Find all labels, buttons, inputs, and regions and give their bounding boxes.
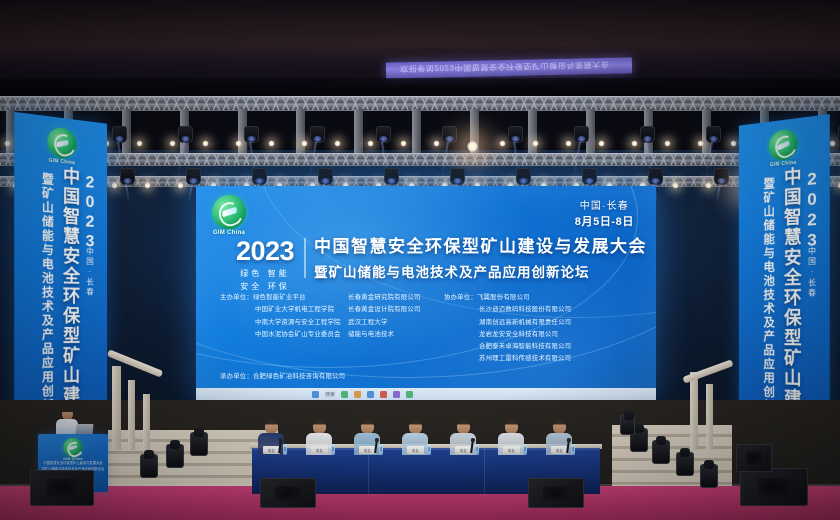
- event-location: 中国·长春: [575, 200, 634, 215]
- main-led-screen: GIM China 中国·长春 8月5日-8日 2023 绿色 智能 安全 环保…: [196, 186, 656, 400]
- stage-spotlight: [705, 182, 712, 189]
- panelist: [354, 420, 380, 520]
- moving-head-fixture: [186, 168, 201, 185]
- nameplate-text: 姓名: [364, 448, 371, 453]
- cohost-label: 协办单位：: [444, 294, 477, 301]
- cohost-item-4: 合肥泰禾卓海智能科技有限公司: [444, 341, 571, 353]
- nameplate-text: 姓名: [556, 448, 563, 453]
- stage-spotlight: [730, 140, 737, 147]
- lighting-truss-mid: [0, 153, 840, 166]
- moving-head-fixture: [706, 126, 721, 143]
- panelist-head: [409, 420, 422, 434]
- stage-spotlight: [301, 140, 308, 147]
- water-bottle: [475, 444, 479, 455]
- balustrade-left-post: [143, 394, 150, 452]
- cohost-column: 协办单位：飞翼股份有限公司 长沙迪迈数码科技股份有限公司 湖南创远高新机械有限责…: [444, 292, 571, 366]
- panelist: [498, 420, 524, 520]
- stage-spotlight: [672, 182, 679, 189]
- moving-head-fixture: [442, 126, 457, 143]
- water-bottle: [283, 444, 287, 455]
- panelist-head: [505, 420, 518, 434]
- moving-head-fixture: [244, 126, 259, 143]
- moving-head-fixture: [252, 168, 267, 185]
- stage-monitor-speaker: [30, 470, 94, 506]
- banner-right-city: 中国·长春: [807, 246, 818, 298]
- stage-spotlight: [565, 140, 572, 147]
- panelist-head: [361, 420, 374, 434]
- stage-spotlight: [202, 140, 209, 147]
- stage-monitor-speaker: [528, 478, 584, 508]
- organizer-block: 主办单位：绿色智能矿业平台 中国矿业大学机电工程学院 中南大学资源与安全工程学院…: [220, 292, 644, 383]
- moving-head-light: [700, 464, 718, 488]
- taskbar-search-label[interactable]: 搜索: [325, 391, 335, 398]
- balustrade-left-post: [128, 380, 135, 450]
- balustrade-right-post: [690, 372, 698, 450]
- store-icon[interactable]: [406, 391, 413, 398]
- moving-head-fixture: [384, 168, 399, 185]
- stage-spotlight: [334, 140, 341, 147]
- water-bottle: [331, 444, 335, 455]
- host-col1-item-1: 中国矿业大学机电工程学院: [220, 304, 348, 316]
- moving-head-fixture: [582, 168, 597, 185]
- chat-icon[interactable]: [367, 391, 374, 398]
- truss-vertical: [412, 109, 421, 153]
- title-divider: [304, 238, 306, 278]
- explorer-icon[interactable]: [380, 391, 387, 398]
- moving-head-light: [190, 432, 208, 456]
- panelist-head: [313, 420, 326, 434]
- cohost-item-5: 苏州理工雷科传感技术有限公司: [444, 353, 571, 365]
- cohost-item-3: 龙岩龙安安全科技有限公司: [444, 329, 571, 341]
- event-dates: 8月5日-8日: [575, 215, 634, 231]
- gim-logo-icon: GIM China: [769, 128, 798, 168]
- moving-head-light: [140, 454, 158, 478]
- moving-head-fixture: [120, 168, 135, 185]
- conference-stage-photo: 欢迎参加2023中国智慧安全环保型矿山建设与发展大会 GIM China 202…: [0, 0, 840, 520]
- moving-head-fixture: [714, 168, 729, 185]
- nameplate-text: 姓名: [268, 448, 275, 453]
- truss-vertical: [354, 109, 363, 153]
- nameplate-text: 姓名: [460, 448, 467, 453]
- gim-logo-icon: GIM China: [63, 438, 82, 461]
- event-year: 2023: [236, 238, 294, 265]
- moving-head-fixture: [640, 126, 655, 143]
- banner-left-city: 中国·长春: [85, 247, 95, 297]
- water-bottle: [379, 444, 383, 455]
- balustrade-right-post: [706, 384, 713, 450]
- moving-head-fixture: [450, 168, 465, 185]
- stage-spotlight: [235, 140, 242, 147]
- host-column-2: 长春黄金研究院有限公司 长春黄金设计院有限公司 武汉工程大学 储能与电池技术: [348, 292, 444, 366]
- event-title-main: 中国智慧安全环保型矿山建设与发展大会: [314, 236, 646, 257]
- podium-line-1: 中国智慧安全环保型矿山建设与发展大会: [38, 460, 108, 465]
- stage-spotlight: [829, 140, 836, 147]
- host-col1-item-2: 中南大学资源与安全工程学院: [220, 317, 348, 329]
- event-year-block: 2023 绿色 智能 安全 环保: [236, 238, 294, 294]
- panelist-head: [553, 420, 566, 434]
- gim-logo-icon: GIM China: [212, 195, 246, 236]
- moving-head-fixture: [376, 126, 391, 143]
- stage-spotlight: [466, 140, 479, 153]
- moving-head-fixture: [648, 168, 663, 185]
- moving-head-light: [166, 444, 184, 468]
- stage-spotlight: [4, 140, 11, 147]
- panelist-head: [265, 420, 278, 434]
- moving-head-fixture: [318, 168, 333, 185]
- moving-head-fixture: [178, 126, 193, 143]
- amp-rack-case: [736, 444, 772, 472]
- stage-spotlight: [532, 140, 539, 147]
- event-location-date: 中国·长春 8月5日-8日: [575, 200, 634, 230]
- balustrade-left-post: [112, 366, 121, 450]
- nameplate: 姓名: [503, 446, 520, 454]
- stage-spotlight: [499, 140, 506, 147]
- cohost-item-2: 湖南创远高新机械有限责任公司: [444, 317, 571, 329]
- stage-spotlight: [697, 140, 704, 147]
- gim-logo-text: GIM China: [49, 158, 75, 167]
- edge-icon[interactable]: [393, 391, 400, 398]
- water-bottle: [571, 444, 575, 455]
- widget-icon[interactable]: [341, 391, 348, 398]
- moving-head-fixture: [310, 126, 325, 143]
- host-label: 主办单位：: [220, 294, 253, 301]
- event-title-sub: 暨矿山储能与电池技术及产品应用创新论坛: [314, 261, 646, 281]
- stage-spotlight: [177, 182, 184, 189]
- stage-spotlight: [144, 182, 151, 189]
- stage-spotlight: [400, 140, 407, 147]
- windows-icon[interactable]: [312, 391, 319, 398]
- moving-head-fixture: [574, 126, 589, 143]
- undertaker-label: 承办单位：: [220, 373, 253, 380]
- stage-spotlight: [169, 140, 176, 147]
- panelist: [402, 420, 428, 520]
- host-col2-item-0: 长春黄金研究院有限公司: [348, 292, 444, 304]
- stage-spotlight: [631, 140, 638, 147]
- host-label-row: 主办单位：绿色智能矿业平台: [220, 292, 348, 304]
- stage-spotlight: [433, 140, 440, 147]
- nameplate: 姓名: [407, 446, 424, 454]
- stage-spotlight: [268, 140, 275, 147]
- host-col2-item-3: 储能与电池技术: [348, 329, 444, 341]
- undertaker-name: 合肥绿色矿冶科技咨询有限公司: [253, 373, 345, 380]
- nameplate-text: 姓名: [412, 448, 419, 453]
- moving-head-fixture: [508, 126, 523, 143]
- stage-spotlight: [598, 140, 605, 147]
- desktop-taskbar[interactable]: 搜索: [196, 388, 656, 400]
- water-bottle: [427, 444, 431, 455]
- host-col2-item-2: 武汉工程大学: [348, 317, 444, 329]
- gim-logo-icon: GIM China: [47, 126, 76, 166]
- host-col1-item-0: 绿色智能矿业平台: [253, 294, 306, 301]
- slogan-line-1: 绿色 智能: [236, 268, 294, 281]
- stage-spotlight: [664, 140, 671, 147]
- moving-head-light: [652, 440, 670, 464]
- host-col2-item-1: 长春黄金设计院有限公司: [348, 304, 444, 316]
- host-col1-item-3: 中国水泥协会矿山专业委员会: [220, 329, 348, 341]
- panelist-head: [457, 420, 470, 434]
- stage-monitor-speaker: [740, 468, 808, 506]
- water-bottle: [523, 444, 527, 455]
- cohost-label-row: 协办单位：飞翼股份有限公司: [444, 292, 571, 304]
- nameplate-text: 姓名: [508, 448, 515, 453]
- host-column-1: 主办单位：绿色智能矿业平台 中国矿业大学机电工程学院 中南大学资源与安全工程学院…: [220, 292, 348, 366]
- moving-head-light: [676, 452, 694, 476]
- stage-spotlight: [111, 182, 118, 189]
- moving-head-light: [620, 415, 635, 435]
- stage-monitor-speaker: [260, 478, 316, 508]
- moving-head-fixture: [516, 168, 531, 185]
- ticker-text: 欢迎参加2023中国智慧安全环保型矿山建设与发展大会: [400, 59, 610, 74]
- undertaker-row: 承办单位：合肥绿色矿冶科技咨询有限公司: [220, 371, 644, 383]
- banner-right-year: 2023: [802, 168, 822, 251]
- weather-icon[interactable]: [354, 391, 361, 398]
- stage-spotlight: [136, 140, 143, 147]
- moving-head-fixture: [112, 126, 127, 143]
- nameplate: 姓名: [311, 446, 328, 454]
- stage-spotlight: [367, 140, 374, 147]
- cohost-item-0: 飞翼股份有限公司: [477, 294, 530, 301]
- cohost-item-1: 长沙迪迈数码科技股份有限公司: [444, 304, 571, 316]
- event-titles: 中国智慧安全环保型矿山建设与发展大会 暨矿山储能与电池技术及产品应用创新论坛: [314, 236, 646, 281]
- nameplate-text: 姓名: [316, 448, 323, 453]
- panelist: [450, 420, 476, 520]
